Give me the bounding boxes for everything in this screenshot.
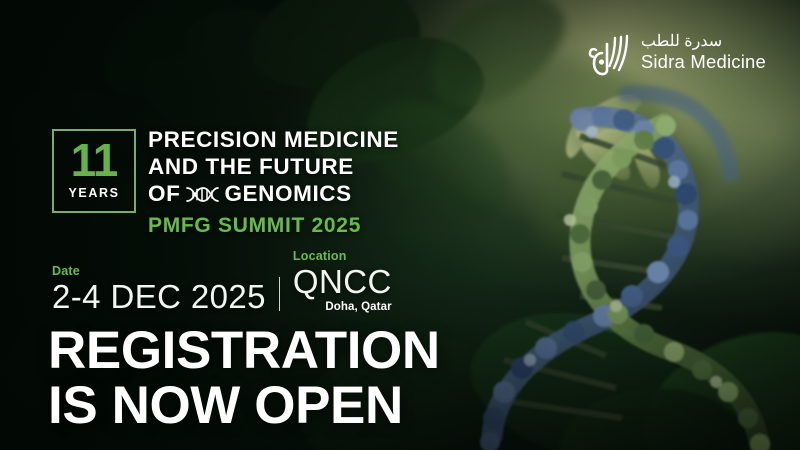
location-block: Location QNCC Doha, Qatar <box>293 249 392 313</box>
event-banner: سدرة للطب Sidra Medicine 11 YEARS PRECIS… <box>0 0 800 450</box>
headline-line-2: IS NOW OPEN <box>48 378 440 433</box>
dna-helix-icon <box>185 186 219 203</box>
event-details: Date 2-4 DEC 2025 Location QNCC Doha, Qa… <box>52 249 392 313</box>
logo-arabic-name: سدرة للطب <box>641 34 722 50</box>
date-value: 2-4 DEC 2025 <box>52 280 266 313</box>
sidra-medicine-logo: سدرة للطب Sidra Medicine <box>587 30 766 76</box>
title-line-2: AND THE FUTURE <box>148 153 399 180</box>
title-line-3-suffix: GENOMICS <box>224 180 351 207</box>
title-line-3: OF <box>148 180 399 207</box>
location-city: Doha, Qatar <box>293 301 392 313</box>
details-divider <box>279 277 280 311</box>
badge-label: YEARS <box>68 186 119 200</box>
location-label: Location <box>293 249 392 263</box>
sidra-calligraphy-mark-icon <box>587 30 631 76</box>
title-line-3-prefix: OF <box>148 180 180 207</box>
anniversary-badge: 11 YEARS <box>52 129 136 213</box>
logo-english-name: Sidra Medicine <box>641 53 766 72</box>
location-value: QNCC <box>293 265 392 298</box>
date-block: Date 2-4 DEC 2025 <box>52 264 266 313</box>
title-line-1: PRECISION MEDICINE <box>148 126 399 153</box>
date-label: Date <box>52 264 266 278</box>
event-title: PRECISION MEDICINE AND THE FUTURE OF <box>148 126 399 238</box>
headline-line-1: REGISTRATION <box>48 323 440 378</box>
registration-headline: REGISTRATION IS NOW OPEN <box>48 323 440 433</box>
event-subtitle: PMFG SUMMIT 2025 <box>148 214 399 238</box>
badge-number: 11 <box>71 140 118 180</box>
